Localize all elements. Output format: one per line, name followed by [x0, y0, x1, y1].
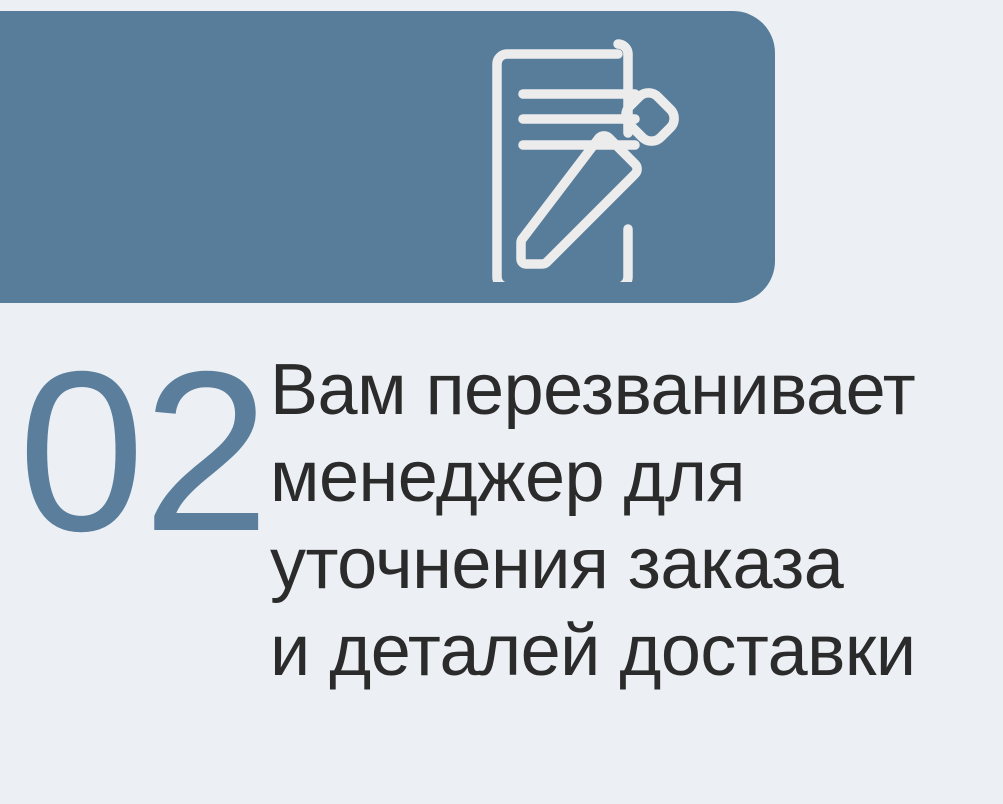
- document-with-pencil-icon: [485, 37, 685, 282]
- step-description-line: менеджер для: [270, 434, 1001, 521]
- step-card: 02 Вам перезванивает менеджер для уточне…: [0, 0, 1003, 804]
- icon-panel: [0, 11, 775, 303]
- step-description: Вам перезванивает менеджер для уточнения…: [270, 303, 1003, 695]
- step-description-line: и деталей доставки: [270, 608, 1001, 695]
- step-description-line: уточнения заказа: [270, 521, 1001, 608]
- step-body: 02 Вам перезванивает менеджер для уточне…: [0, 303, 1003, 804]
- step-description-line: Вам перезванивает: [270, 347, 1001, 434]
- step-number: 02: [18, 303, 270, 558]
